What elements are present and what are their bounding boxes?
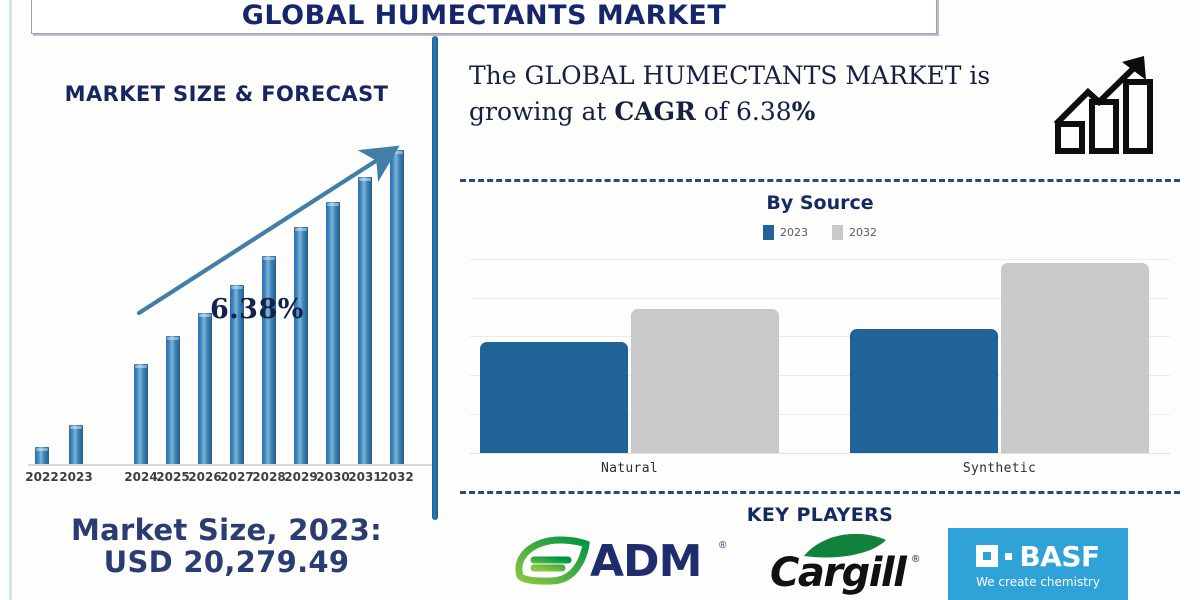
basf-tagline: We create chemistry	[976, 575, 1100, 589]
basf-dot-icon	[1005, 553, 1012, 560]
key-players-title: KEY PLAYERS	[440, 504, 1200, 526]
growth-chart-icon	[1052, 50, 1162, 155]
year-label-2027: 2027	[220, 470, 253, 484]
cagr-statement: The GLOBAL HUMECTANTS MARKET is growing …	[469, 58, 1039, 129]
chart-baseline	[470, 453, 1170, 454]
adm-registered-mark: ®	[719, 540, 726, 551]
year-label-2028: 2028	[252, 470, 285, 484]
by-source-title: By Source	[440, 192, 1200, 214]
bar-2030	[326, 202, 340, 464]
legend-item-2032[interactable]: 2032	[832, 225, 877, 240]
market-size-line-2: USD 20,279.49	[14, 546, 439, 578]
right-panel: The GLOBAL HUMECTANTS MARKET is growing …	[440, 0, 1200, 600]
key-players-logos: ADM ® Cargill ® BASF We create chemistry	[440, 528, 1200, 600]
basf-square-icon	[976, 545, 998, 567]
cargill-registered-mark: ®	[912, 554, 919, 565]
bar-2031	[358, 177, 372, 464]
chart-baseline	[28, 464, 433, 466]
year-label-2031: 2031	[348, 470, 381, 484]
legend-item-2023[interactable]: 2023	[763, 225, 808, 240]
market-size-forecast-heading: MARKET SIZE & FORECAST	[14, 82, 439, 106]
category-label-natural: Natural	[601, 461, 658, 476]
year-label-2029: 2029	[284, 470, 317, 484]
legend-label-2023: 2023	[780, 226, 808, 239]
cagr-annotation: 6.38%	[210, 294, 304, 325]
bar-2029	[294, 227, 308, 464]
grid-line-100	[470, 259, 1170, 260]
left-panel: MARKET SIZE & FORECAST 6.38% 20222023202…	[14, 36, 439, 600]
bar-2028	[262, 256, 276, 464]
cargill-wordmark: Cargill	[770, 550, 905, 596]
basf-mark-row: BASF	[976, 540, 1099, 573]
infographic-page: GLOBAL HUMECTANTS MARKET MARKET SIZE & F…	[0, 0, 1200, 600]
bar-2023	[69, 425, 83, 464]
bar-2025	[166, 336, 180, 464]
year-label-2022: 2022	[25, 470, 58, 484]
vertical-divider	[432, 36, 438, 520]
cagr-statement-bold-percent: %	[792, 97, 816, 126]
category-label-synthetic: Synthetic	[963, 461, 1036, 476]
by-source-chart	[470, 249, 1170, 454]
bar-2022	[35, 447, 49, 464]
basf-wordmark: BASF	[1019, 540, 1099, 573]
bar-natural-2032	[631, 309, 779, 453]
year-label-2026: 2026	[188, 470, 221, 484]
year-label-2024: 2024	[124, 470, 157, 484]
year-label-2032: 2032	[380, 470, 413, 484]
bar-synthetic-2023	[850, 329, 998, 453]
year-axis-labels: 2022202320242025202620272028202920302031…	[14, 470, 439, 490]
cagr-statement-bold-cagr: CAGR	[614, 97, 695, 126]
legend-swatch-2032	[832, 225, 843, 240]
bar-2026	[198, 313, 212, 464]
cagr-statement-mid: of 6.38	[696, 97, 792, 126]
divider-dashed-bottom	[460, 491, 1180, 494]
year-label-2030: 2030	[316, 470, 349, 484]
by-source-legend: 20232032	[440, 225, 1200, 240]
logo-adm[interactable]: ADM ®	[512, 534, 732, 592]
logo-basf[interactable]: BASF We create chemistry	[948, 528, 1128, 600]
year-label-2025: 2025	[156, 470, 189, 484]
market-size-forecast-chart: 6.38%	[14, 136, 439, 466]
bar-synthetic-2032	[1001, 263, 1149, 453]
logo-cargill[interactable]: Cargill ®	[770, 532, 930, 594]
legend-swatch-2023	[763, 225, 774, 240]
legend-label-2032: 2032	[849, 226, 877, 239]
adm-wordmark: ADM	[590, 536, 701, 587]
year-label-2023: 2023	[59, 470, 92, 484]
left-edge-stripe	[9, 0, 12, 600]
bar-natural-2023	[480, 342, 628, 453]
market-size-line-1: Market Size, 2023:	[14, 514, 439, 546]
market-size-value: Market Size, 2023: USD 20,279.49	[14, 514, 439, 579]
bar-2032	[390, 150, 404, 464]
bar-2024	[134, 364, 148, 464]
divider-dashed-top	[460, 179, 1180, 182]
adm-leaf-icon	[512, 534, 590, 586]
